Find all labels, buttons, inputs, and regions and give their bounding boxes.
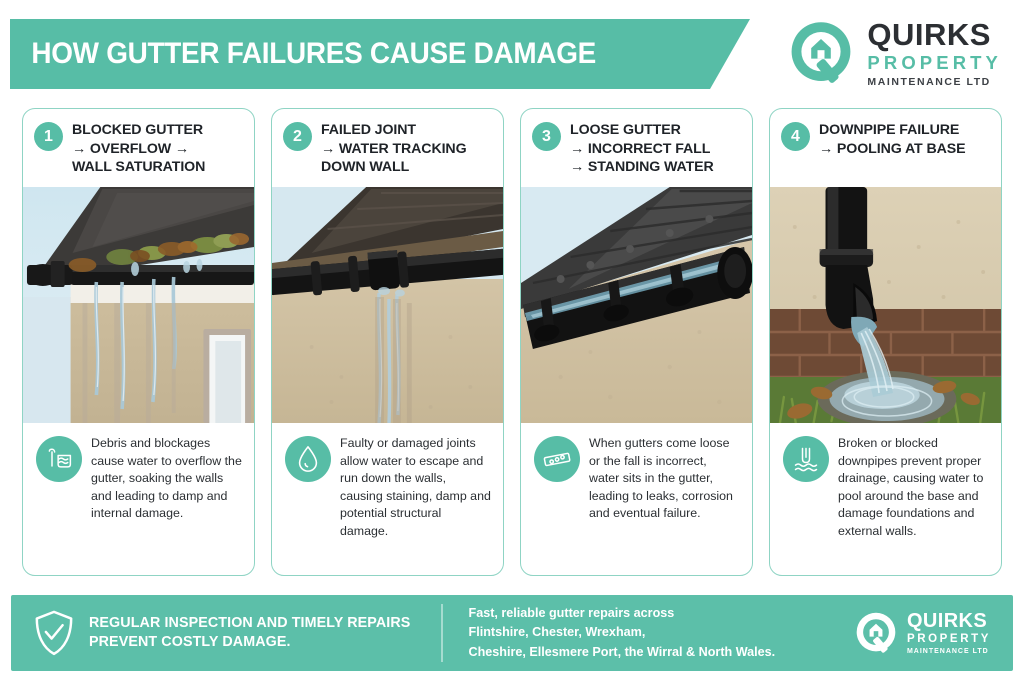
card-header: 2 FAILED JOINT → WATER TRACKING DOWN WAL… bbox=[272, 109, 503, 187]
card-description: When gutters come loose or the fall is i… bbox=[589, 435, 740, 523]
spirit-level-icon bbox=[534, 436, 580, 482]
card-description: Faulty or damaged joints allow water to … bbox=[340, 435, 491, 541]
loose-gutter-standing-water-photo bbox=[521, 187, 752, 423]
downpipe-water-icon bbox=[783, 436, 829, 482]
footer-brand-logo: QUIRKS PROPERTY MAINTENANCE LTD bbox=[853, 610, 991, 656]
card-body: Faulty or damaged joints allow water to … bbox=[272, 423, 503, 575]
brand-sub1: PROPERTY bbox=[867, 54, 1002, 73]
page-title: HOW GUTTER FAILURES CAUSE DAMAGE bbox=[10, 37, 596, 71]
brand-sub2: MAINTENANCE LTD bbox=[867, 77, 1002, 88]
cards-row: 1 BLOCKED GUTTER → OVERFLOW → WALL SATUR… bbox=[0, 108, 1024, 578]
card-number-badge: 2 bbox=[283, 122, 312, 151]
card-body: Broken or blocked downpipes prevent prop… bbox=[770, 423, 1001, 575]
card-downpipe-failure: 4 DOWNPIPE FAILURE → POOLING AT BASE bbox=[769, 108, 1002, 576]
footer-headline: REGULAR INSPECTION AND TIMELY REPAIRS PR… bbox=[89, 614, 410, 652]
footer-brand-sub2: MAINTENANCE LTD bbox=[907, 648, 991, 655]
card-description: Broken or blocked downpipes prevent prop… bbox=[838, 435, 989, 541]
footer-brand-wordmark: QUIRKS PROPERTY MAINTENANCE LTD bbox=[907, 611, 991, 656]
card-number-badge: 4 bbox=[781, 122, 810, 151]
infographic-page: HOW GUTTER FAILURES CAUSE DAMAGE QUIRKS … bbox=[0, 0, 1024, 683]
card-failed-joint: 2 FAILED JOINT → WATER TRACKING DOWN WAL… bbox=[271, 108, 504, 576]
card-title: DOWNPIPE FAILURE → POOLING AT BASE bbox=[819, 121, 966, 158]
quirks-q-house-logo-icon bbox=[786, 18, 856, 88]
downpipe-failure-pooling-photo bbox=[770, 187, 1001, 423]
card-blocked-gutter: 1 BLOCKED GUTTER → OVERFLOW → WALL SATUR… bbox=[22, 108, 255, 576]
brand-logo: QUIRKS PROPERTY MAINTENANCE LTD bbox=[786, 18, 1002, 88]
card-title: FAILED JOINT → WATER TRACKING DOWN WALL bbox=[321, 121, 467, 177]
card-title: BLOCKED GUTTER → OVERFLOW → WALL SATURAT… bbox=[72, 121, 205, 177]
overflowing-gutter-icon bbox=[36, 436, 82, 482]
card-loose-gutter: 3 LOOSE GUTTER → INCORRECT FALL → STANDI… bbox=[520, 108, 753, 576]
footer-brand-name: QUIRKS bbox=[907, 611, 991, 631]
card-body: When gutters come loose or the fall is i… bbox=[521, 423, 752, 575]
footer-divider bbox=[441, 604, 443, 662]
card-description: Debris and blockages cause water to over… bbox=[91, 435, 242, 523]
quirks-q-house-logo-icon bbox=[853, 610, 899, 656]
card-header: 1 BLOCKED GUTTER → OVERFLOW → WALL SATUR… bbox=[23, 109, 254, 187]
card-number-badge: 1 bbox=[34, 122, 63, 151]
brand-logo-wordmark: QUIRKS PROPERTY MAINTENANCE LTD bbox=[867, 19, 1002, 88]
brand-name: QUIRKS bbox=[867, 19, 1002, 50]
footer-coverage-text: Fast, reliable gutter repairs across Fli… bbox=[469, 604, 853, 663]
failed-joint-leak-photo bbox=[272, 187, 503, 423]
shield-check-icon bbox=[33, 609, 75, 657]
header-banner: HOW GUTTER FAILURES CAUSE DAMAGE bbox=[10, 19, 750, 89]
card-body: Debris and blockages cause water to over… bbox=[23, 423, 254, 575]
blocked-gutter-overflow-photo bbox=[23, 187, 254, 423]
header: HOW GUTTER FAILURES CAUSE DAMAGE QUIRKS … bbox=[0, 0, 1024, 104]
footer-bar: REGULAR INSPECTION AND TIMELY REPAIRS PR… bbox=[11, 595, 1013, 671]
card-header: 3 LOOSE GUTTER → INCORRECT FALL → STANDI… bbox=[521, 109, 752, 187]
card-header: 4 DOWNPIPE FAILURE → POOLING AT BASE bbox=[770, 109, 1001, 187]
footer-headline-group: REGULAR INSPECTION AND TIMELY REPAIRS PR… bbox=[33, 609, 433, 657]
card-title: LOOSE GUTTER → INCORRECT FALL → STANDING… bbox=[570, 121, 714, 177]
footer-brand-sub1: PROPERTY bbox=[907, 634, 991, 646]
water-droplet-icon bbox=[285, 436, 331, 482]
card-number-badge: 3 bbox=[532, 122, 561, 151]
